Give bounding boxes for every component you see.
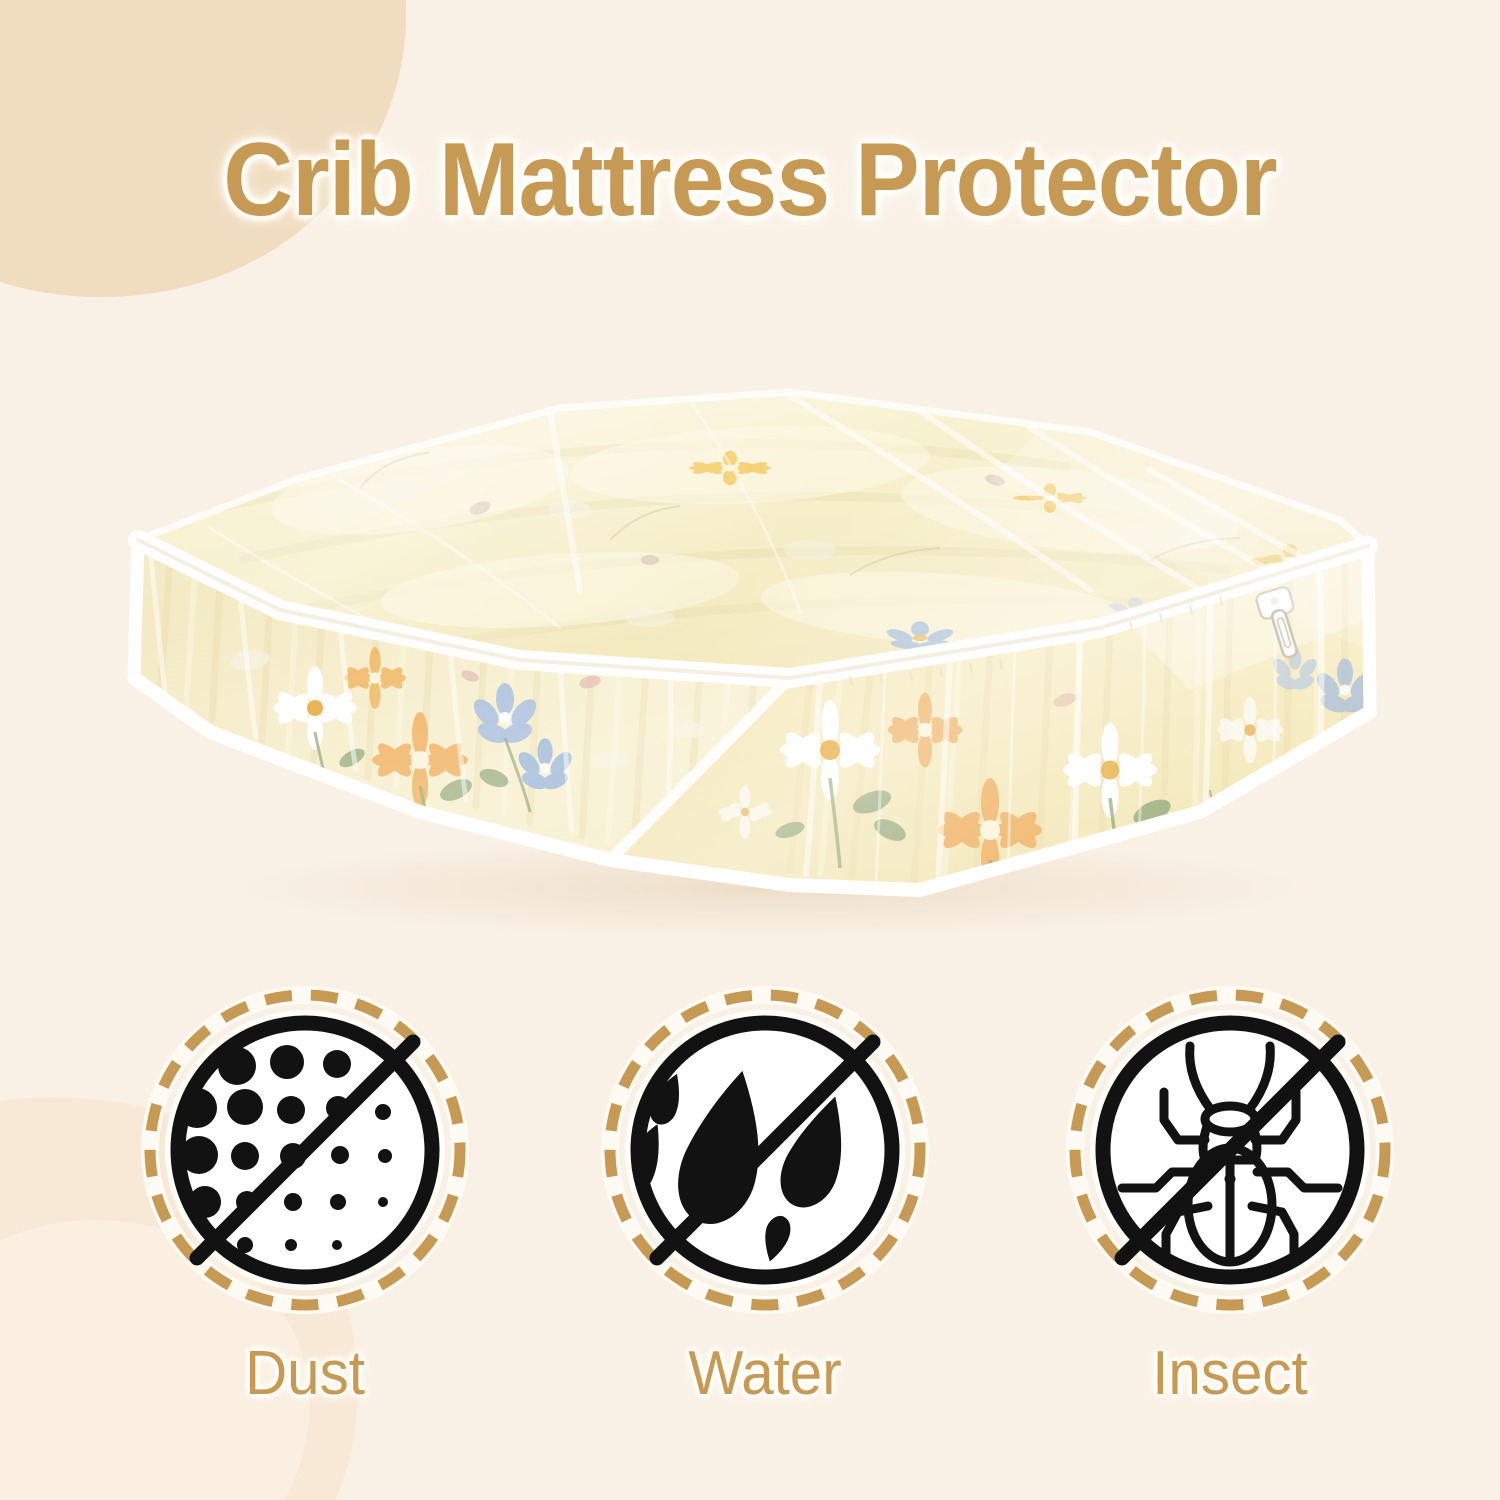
feature-insect: Insect: [1060, 980, 1400, 1450]
no-insect-icon: [1060, 980, 1400, 1320]
feature-label-water: Water: [605, 1338, 925, 1409]
feature-badges: Dust: [0, 980, 1500, 1450]
no-dust-icon: [135, 980, 475, 1320]
page-title: Crib Mattress Protector: [53, 126, 1448, 235]
feature-label-dust: Dust: [145, 1338, 465, 1409]
feature-label-insect: Insect: [1070, 1338, 1390, 1409]
feature-water: Water: [595, 980, 935, 1450]
feature-dust: Dust: [135, 980, 475, 1450]
product-image: [90, 360, 1420, 940]
no-water-icon: [595, 980, 935, 1320]
product-marketing-image: Crib Mattress Protector: [0, 0, 1500, 1500]
